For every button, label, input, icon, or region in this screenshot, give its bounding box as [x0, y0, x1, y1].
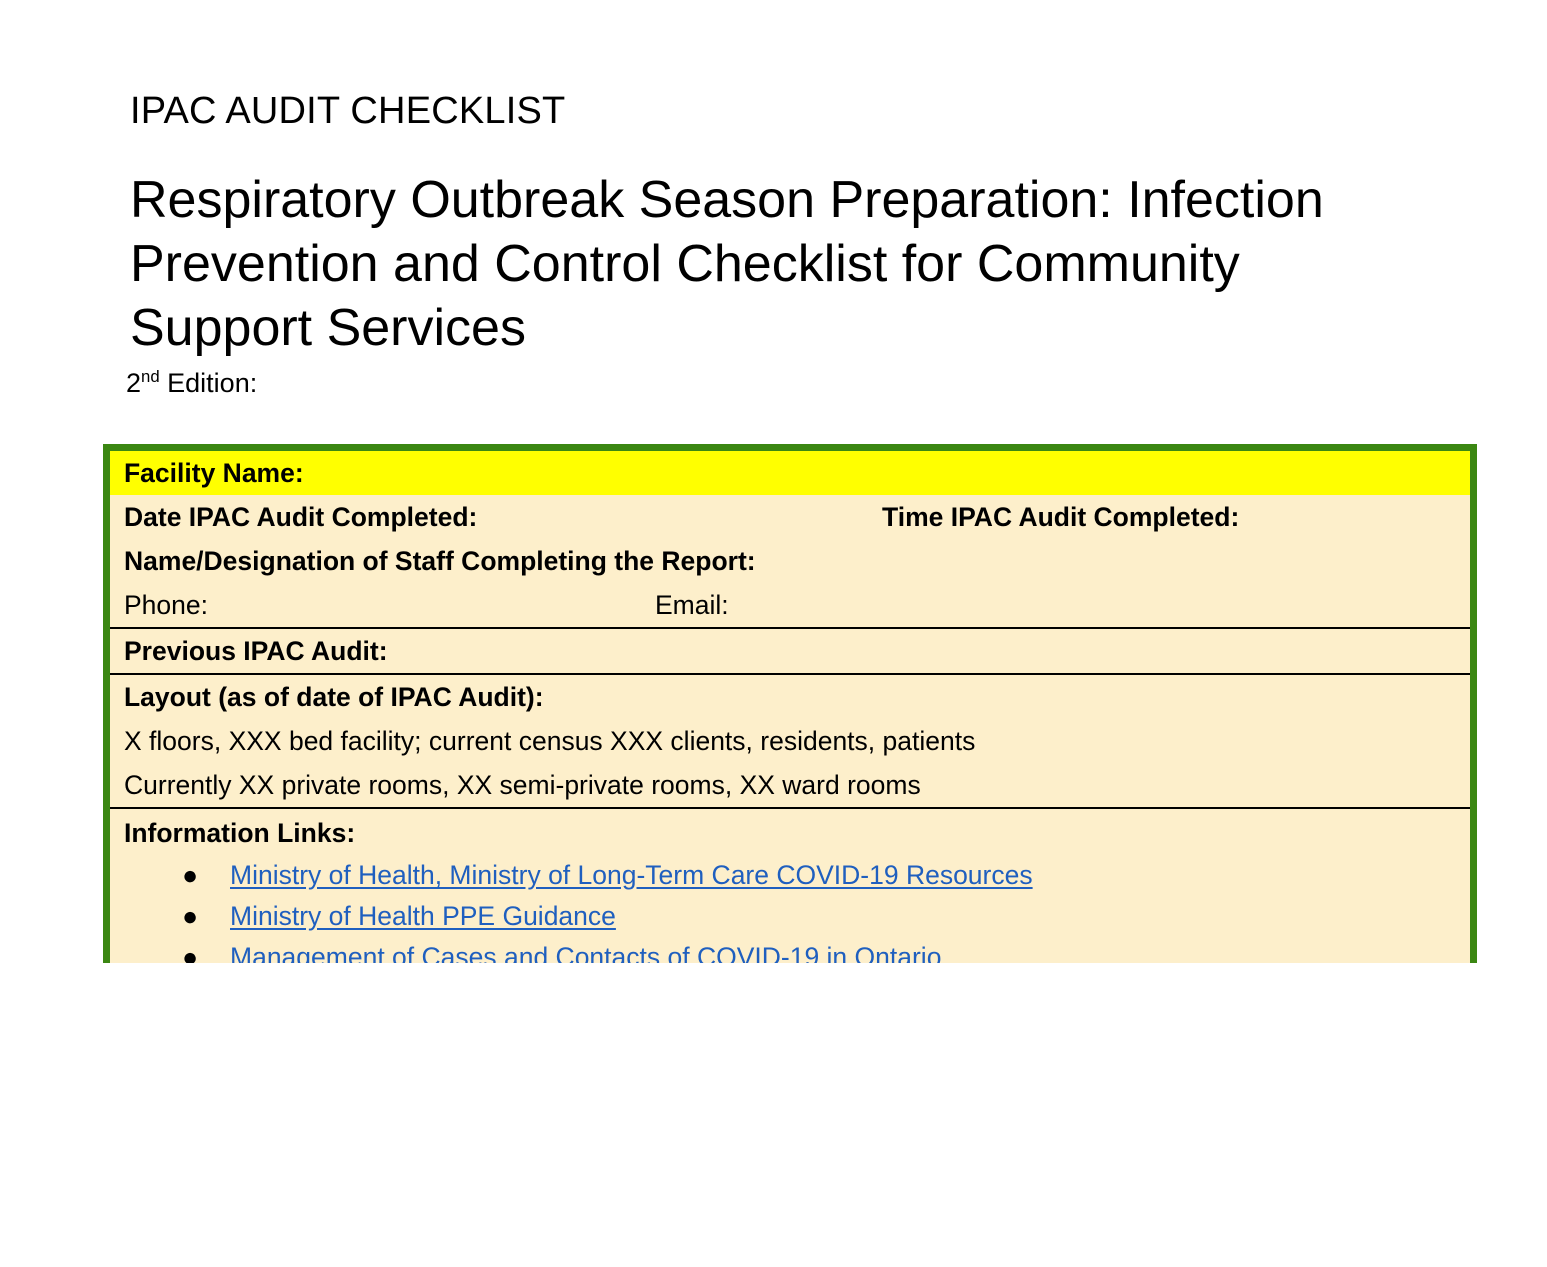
phone-label: Phone: [124, 583, 208, 627]
previous-audit-section: Previous IPAC Audit: [110, 629, 1470, 675]
audit-details-section: Date IPAC Audit Completed: Time IPAC Aud… [110, 495, 1470, 629]
bullet-icon: ● [182, 855, 198, 896]
phone-email-row: Phone: Email: [124, 583, 1456, 627]
edition-number: 2 [126, 368, 141, 398]
email-label: Email: [655, 583, 729, 627]
information-links-section: Information Links: ● Ministry of Health,… [110, 809, 1470, 963]
facility-name-row: Facility Name: [110, 451, 1470, 495]
list-item: ● Ministry of Health, Ministry of Long-T… [124, 855, 1456, 896]
list-item: ● Ministry of Health PPE Guidance [124, 896, 1456, 937]
layout-line-2: Currently XX private rooms, XX semi-priv… [124, 763, 1456, 807]
time-completed-label: Time IPAC Audit Completed: [882, 495, 1239, 539]
bullet-icon: ● [182, 937, 198, 963]
edition-label: 2nd Edition: [126, 367, 257, 399]
date-completed-label: Date IPAC Audit Completed: [124, 495, 477, 539]
information-links-label: Information Links: [124, 811, 1456, 855]
page-title: Respiratory Outbreak Season Preparation:… [130, 168, 1370, 360]
information-links-list: ● Ministry of Health, Ministry of Long-T… [124, 855, 1456, 963]
facility-name-label: Facility Name: [124, 451, 304, 495]
document-page: IPAC AUDIT CHECKLIST Respiratory Outbrea… [0, 0, 1547, 1267]
audit-info-table: Facility Name: Date IPAC Audit Completed… [103, 444, 1477, 963]
link-moh-ltc-covid-resources[interactable]: Ministry of Health, Ministry of Long-Ter… [230, 860, 1033, 890]
audit-date-time-row: Date IPAC Audit Completed: Time IPAC Aud… [124, 495, 1456, 539]
link-moh-ppe-guidance[interactable]: Ministry of Health PPE Guidance [230, 901, 616, 931]
link-management-cases-contacts-ontario[interactable]: Management of Cases and Contacts of COVI… [230, 942, 941, 963]
document-kicker: IPAC AUDIT CHECKLIST [130, 90, 565, 134]
edition-suffix: Edition: [160, 368, 258, 398]
layout-line-1: X floors, XXX bed facility; current cens… [124, 719, 1456, 763]
bullet-icon: ● [182, 896, 198, 937]
previous-audit-label: Previous IPAC Audit: [124, 629, 1456, 673]
edition-ordinal: nd [141, 367, 160, 386]
list-item: ● Management of Cases and Contacts of CO… [124, 937, 1456, 963]
layout-section: Layout (as of date of IPAC Audit): X flo… [110, 675, 1470, 809]
staff-name-designation-label: Name/Designation of Staff Completing the… [124, 539, 1456, 583]
layout-label: Layout (as of date of IPAC Audit): [124, 675, 1456, 719]
